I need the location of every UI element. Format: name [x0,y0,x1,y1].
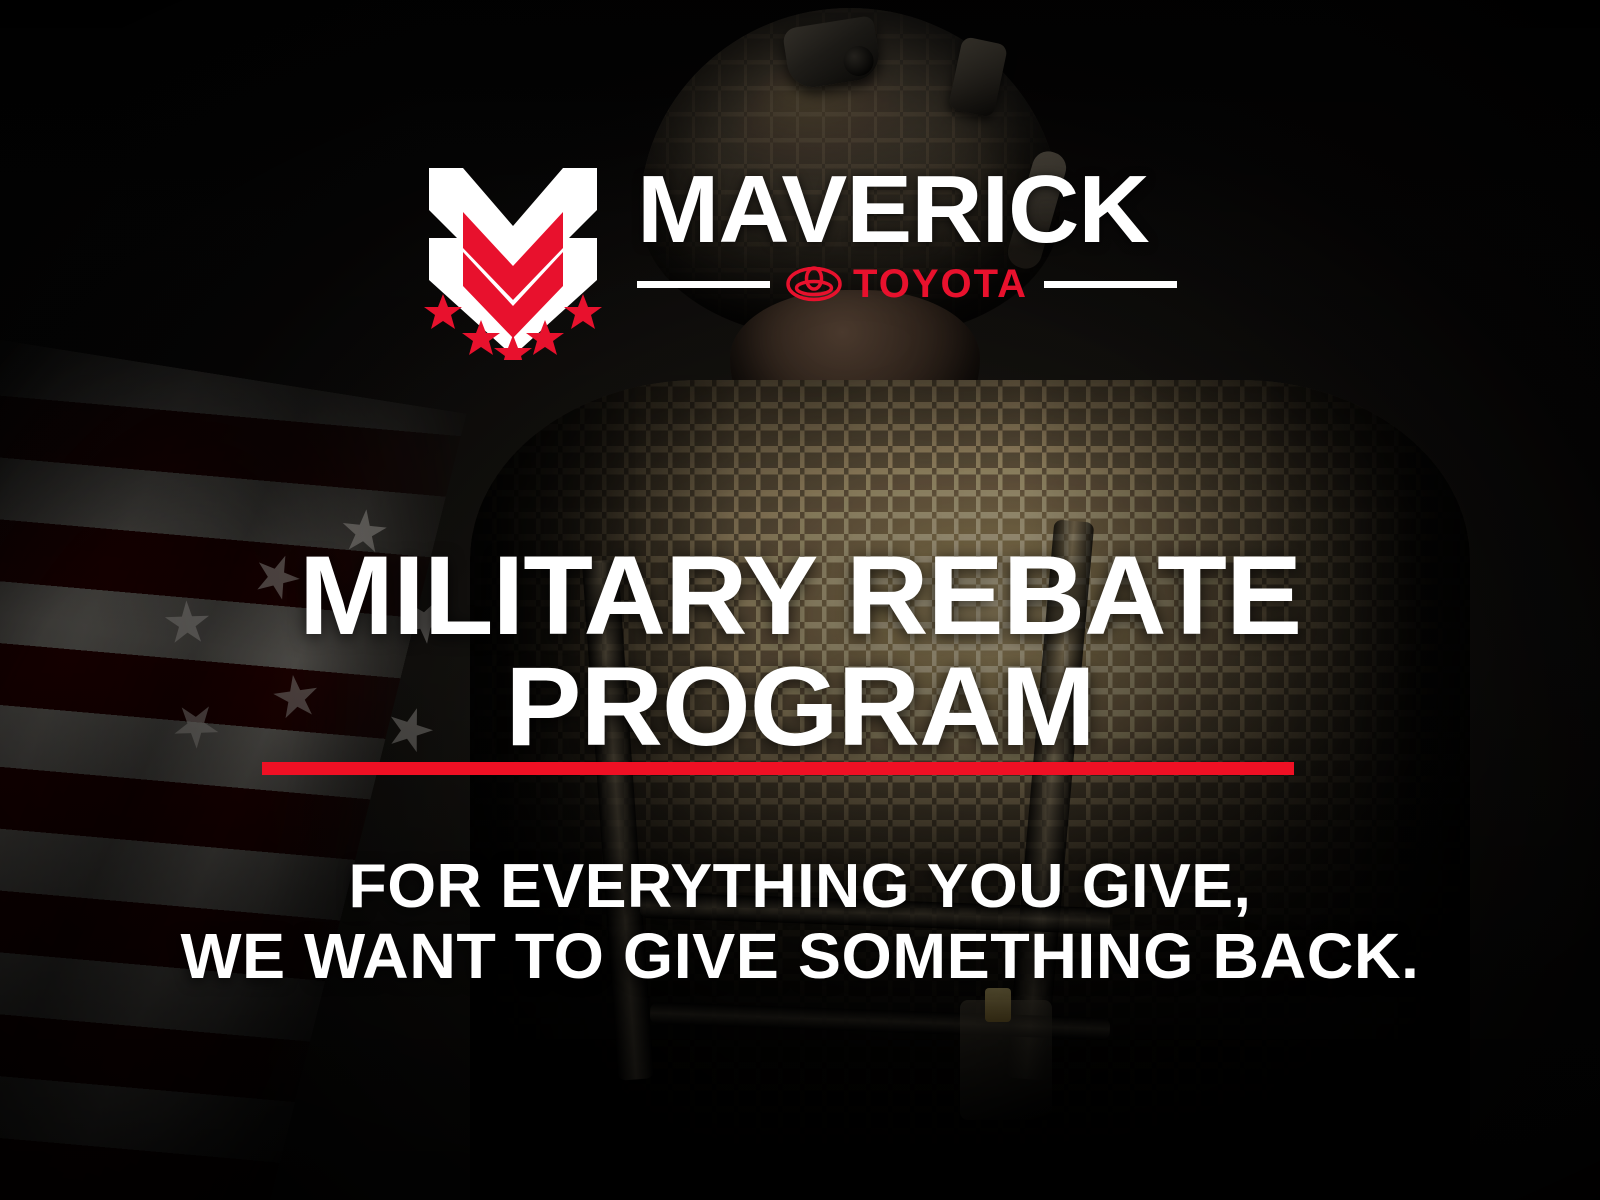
tagline: FOR EVERYTHING YOU GIVE, WE WANT TO GIVE… [0,852,1600,993]
tagline-line-1: FOR EVERYTHING YOU GIVE, [0,852,1600,921]
brand-name-maverick: MAVERICK [637,166,1193,254]
maverick-toyota-logo-lockup[interactable]: MAVERICK TOYOTA [0,160,1600,360]
toyota-sub-lockup: TOYOTA [637,264,1177,304]
tagline-line-2: WE WANT TO GIVE SOMETHING BACK. [0,921,1600,993]
lockup-rule-right [1044,281,1177,288]
toyota-brand-group: TOYOTA [786,264,1028,304]
lockup-rule-left [637,281,770,288]
toyota-wordmark: TOYOTA [853,264,1028,304]
banner-content: MAVERICK TOYOTA MILITAR [0,0,1600,1200]
headline-line-2: PROGRAM [0,652,1600,763]
headline-line-1: MILITARY REBATE [0,541,1600,652]
toyota-emblem-icon [786,266,842,302]
brand-wordmark: MAVERICK TOYOTA [637,160,1177,304]
military-chevron-badge-icon [423,160,603,360]
red-divider-rule [262,762,1294,775]
military-rebate-promo-banner: MAVERICK TOYOTA MILITAR [0,0,1600,1200]
page-title: MILITARY REBATE PROGRAM [0,541,1600,763]
